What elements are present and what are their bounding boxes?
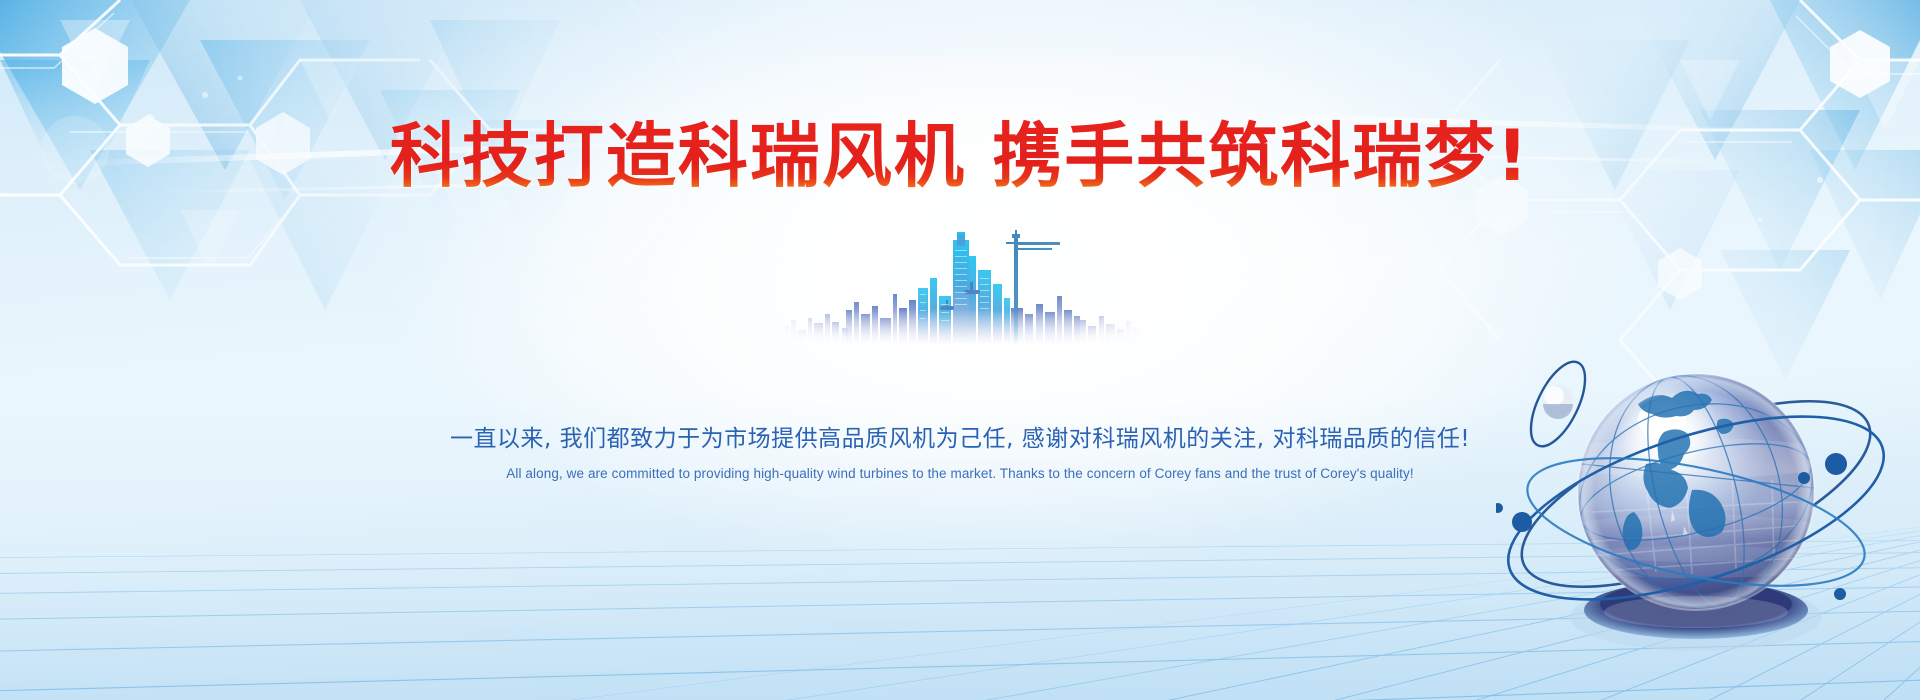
city-skyline-graphic — [780, 222, 1140, 344]
headline-container: 科技打造科瑞风机 携手共筑科瑞梦! — [0, 118, 1920, 194]
banner-headline: 科技打造科瑞风机 携手共筑科瑞梦! — [390, 118, 1530, 194]
satellite-orbit — [1520, 354, 1596, 454]
chrome-globe-graphic — [1496, 312, 1896, 672]
promo-banner: 科技打造科瑞风机 携手共筑科瑞梦! — [0, 0, 1920, 700]
